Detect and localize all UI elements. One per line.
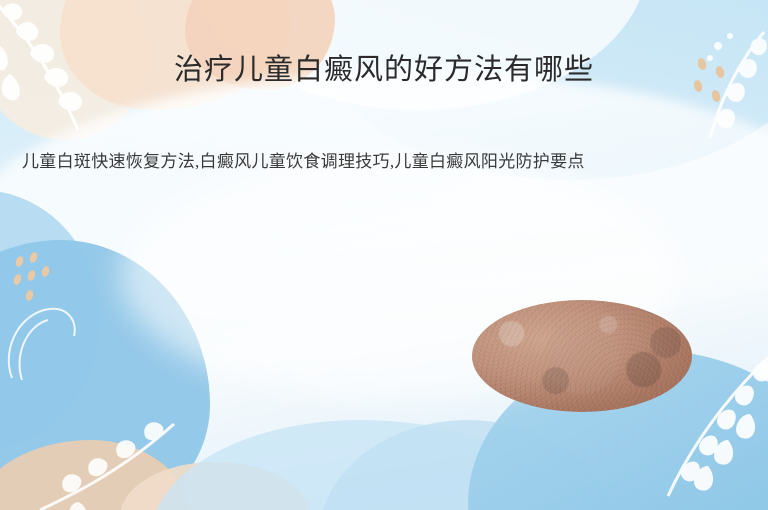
- skin-closeup-photo: [472, 300, 692, 412]
- page-subtitle: 儿童白斑快速恢复方法,白癜风儿童饮食调理技巧,儿童白癜风阳光防护要点: [22, 148, 746, 176]
- poster-canvas: 治疗儿童白癜风的好方法有哪些 儿童白斑快速恢复方法,白癜风儿童饮食调理技巧,儿童…: [0, 0, 768, 510]
- page-title: 治疗儿童白癜风的好方法有哪些: [0, 52, 768, 90]
- dot-cluster-left: [14, 252, 58, 304]
- leaf-frond-bottom-left: [34, 398, 204, 510]
- ring-outline-left: [2, 300, 82, 390]
- skin-photo-grain: [472, 300, 692, 412]
